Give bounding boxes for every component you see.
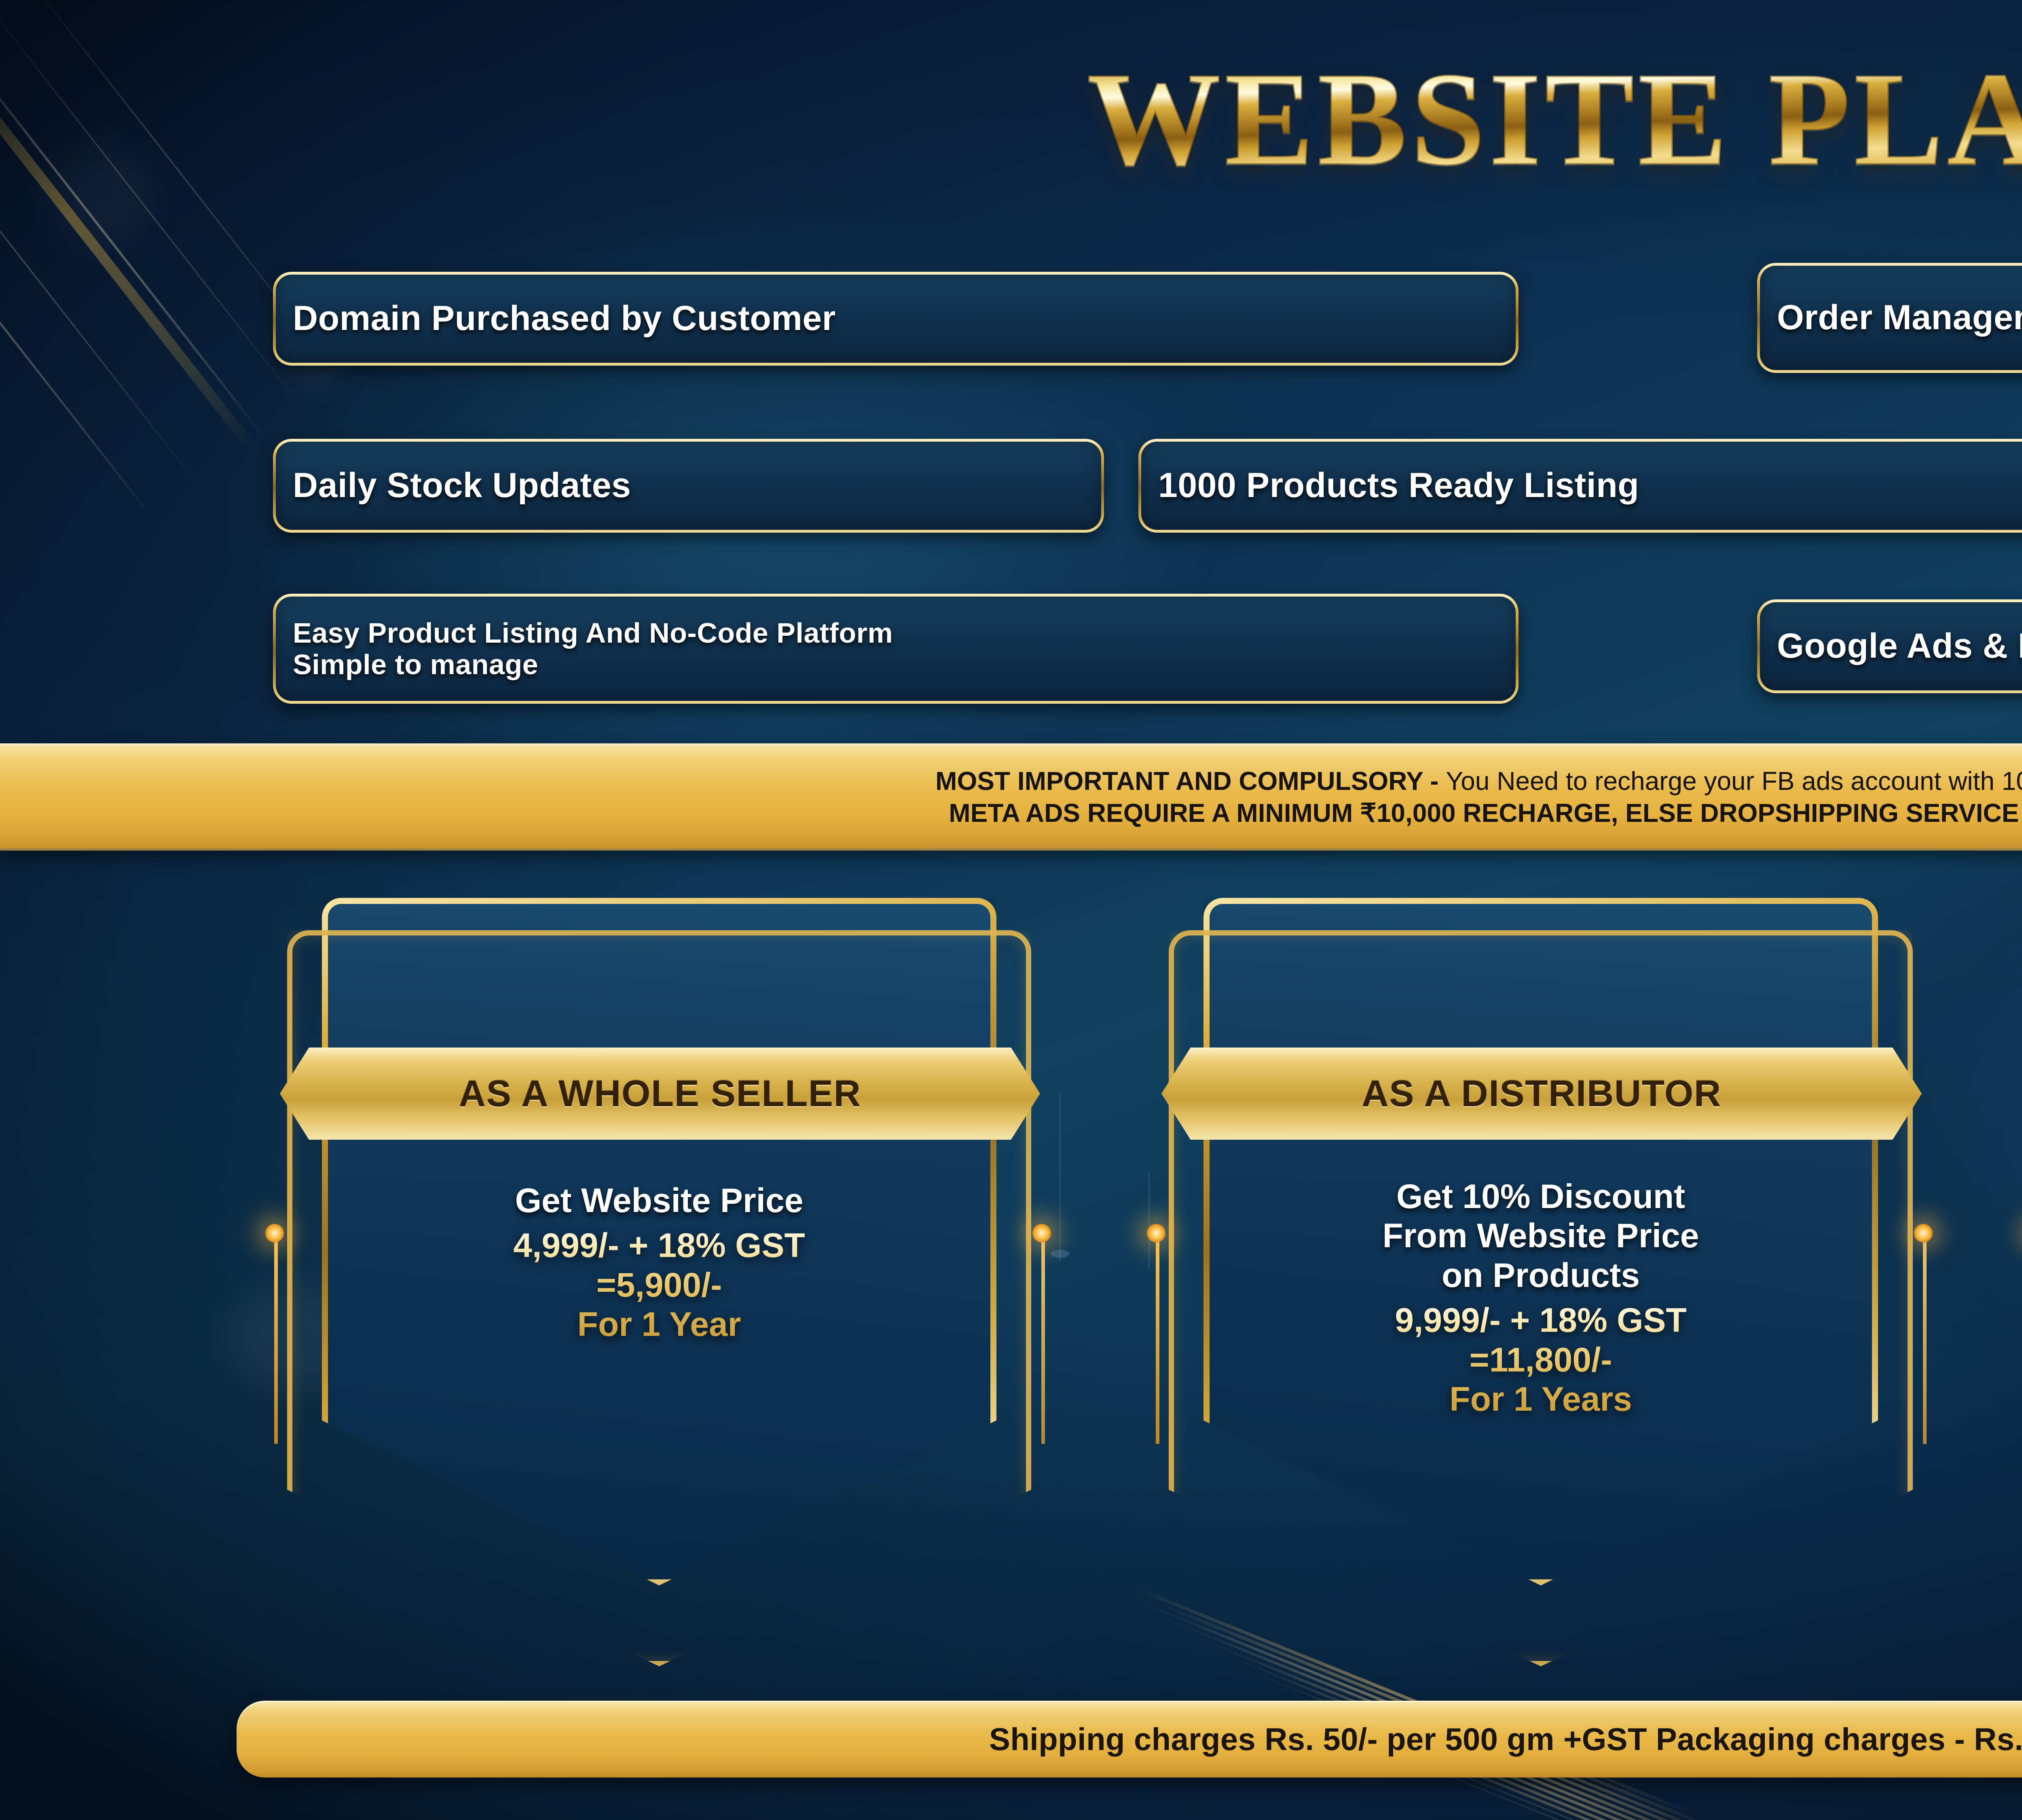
plan-ribbon: AS A WHOLE SELLER <box>280 1048 1040 1140</box>
shipping-charges-label: Shipping charges Rs. 50/- per 500 gm +GS… <box>989 1721 2022 1758</box>
feature-pill-google-ads[interactable]: Google Ads & Meta Pixel Integration <box>1757 599 2022 693</box>
plan-ribbon-label: AS A DISTRIBUTOR <box>1362 1073 1722 1115</box>
feature-pill-domain[interactable]: Domain Purchased by Customer <box>273 272 1519 366</box>
feature-pill-order-management[interactable]: Order Management Panel No Monthly Hostin… <box>1757 263 2022 373</box>
plan-description: Get Website Price <box>344 1181 975 1220</box>
plan-price: 9,999/- + 18% GST =11,800/- For 1 Years <box>1225 1301 1856 1419</box>
compulsory-notice-banner: MOST IMPORTANT AND COMPULSORY - You Need… <box>0 743 2022 851</box>
glow-stem-right <box>1923 1234 1927 1444</box>
feature-pill-products-listing[interactable]: 1000 Products Ready Listing <box>1138 439 2022 533</box>
plan-ribbon: AS A DISTRIBUTOR <box>1161 1048 1922 1140</box>
plan-card-distributor[interactable]: AS A DISTRIBUTOR Get 10% Discount From W… <box>1165 898 1917 1678</box>
glow-dot-left <box>265 1224 284 1242</box>
glow-stem-left <box>274 1234 278 1444</box>
feature-label: Easy Product Listing And No-Code Platfor… <box>276 617 910 681</box>
notice-line-2: META ADS REQUIRE A MINIMUM ₹10,000 RECHA… <box>949 797 2022 829</box>
plan-description: Get 10% Discount From Website Price on P… <box>1225 1177 1856 1295</box>
glow-dot-left <box>1147 1224 1165 1242</box>
page-title: WEBSITE PLAN <box>1087 53 2022 186</box>
feature-label: Order Management Panel <box>1760 300 2022 336</box>
plan-price: 4,999/- + 18% GST =5,900/- For 1 Year <box>344 1226 975 1344</box>
circuit-node <box>1051 1250 1069 1258</box>
plan-content: Get 10% Discount From Website Price on P… <box>1225 1177 1856 1419</box>
notice-line-1-bold: MOST IMPORTANT AND COMPULSORY - <box>935 766 1446 796</box>
feature-label: Domain Purchased by Customer <box>276 301 853 336</box>
plan-content: Get Website Price 4,999/- + 18% GST =5,9… <box>344 1181 975 1344</box>
feature-pill-easy-listing[interactable]: Easy Product Listing And No-Code Platfor… <box>273 594 1519 704</box>
feature-label: Daily Stock Updates <box>276 468 648 504</box>
notice-line-1-rest: You Need to recharge your FB ads account… <box>1446 766 2022 796</box>
feature-label: 1000 Products Ready Listing <box>1141 468 1656 504</box>
circuit-trace <box>1060 1092 1061 1262</box>
circuit-trace <box>1148 1173 1150 1270</box>
page-title-wrap: WEBSITE PLAN <box>0 53 2022 186</box>
poster-background: WEBSITE PLAN Domain Purchased by Custome… <box>0 0 2022 1820</box>
feature-pill-daily-stock[interactable]: Daily Stock Updates <box>273 439 1104 533</box>
notice-line-1: MOST IMPORTANT AND COMPULSORY - You Need… <box>935 765 2022 797</box>
shipping-charges-bar: Shipping charges Rs. 50/- per 500 gm +GS… <box>237 1701 2022 1778</box>
glow-stem-left <box>1156 1234 1159 1444</box>
glow-stem-right <box>1041 1234 1045 1444</box>
feature-label: Google Ads & Meta Pixel Integration <box>1760 629 2022 664</box>
plan-card-whole-seller[interactable]: AS A WHOLE SELLER Get Website Price 4,99… <box>283 898 1035 1678</box>
plan-ribbon-label: AS A WHOLE SELLER <box>459 1073 861 1115</box>
glow-dot-right <box>1032 1224 1051 1242</box>
glow-dot-right <box>1914 1224 1933 1242</box>
